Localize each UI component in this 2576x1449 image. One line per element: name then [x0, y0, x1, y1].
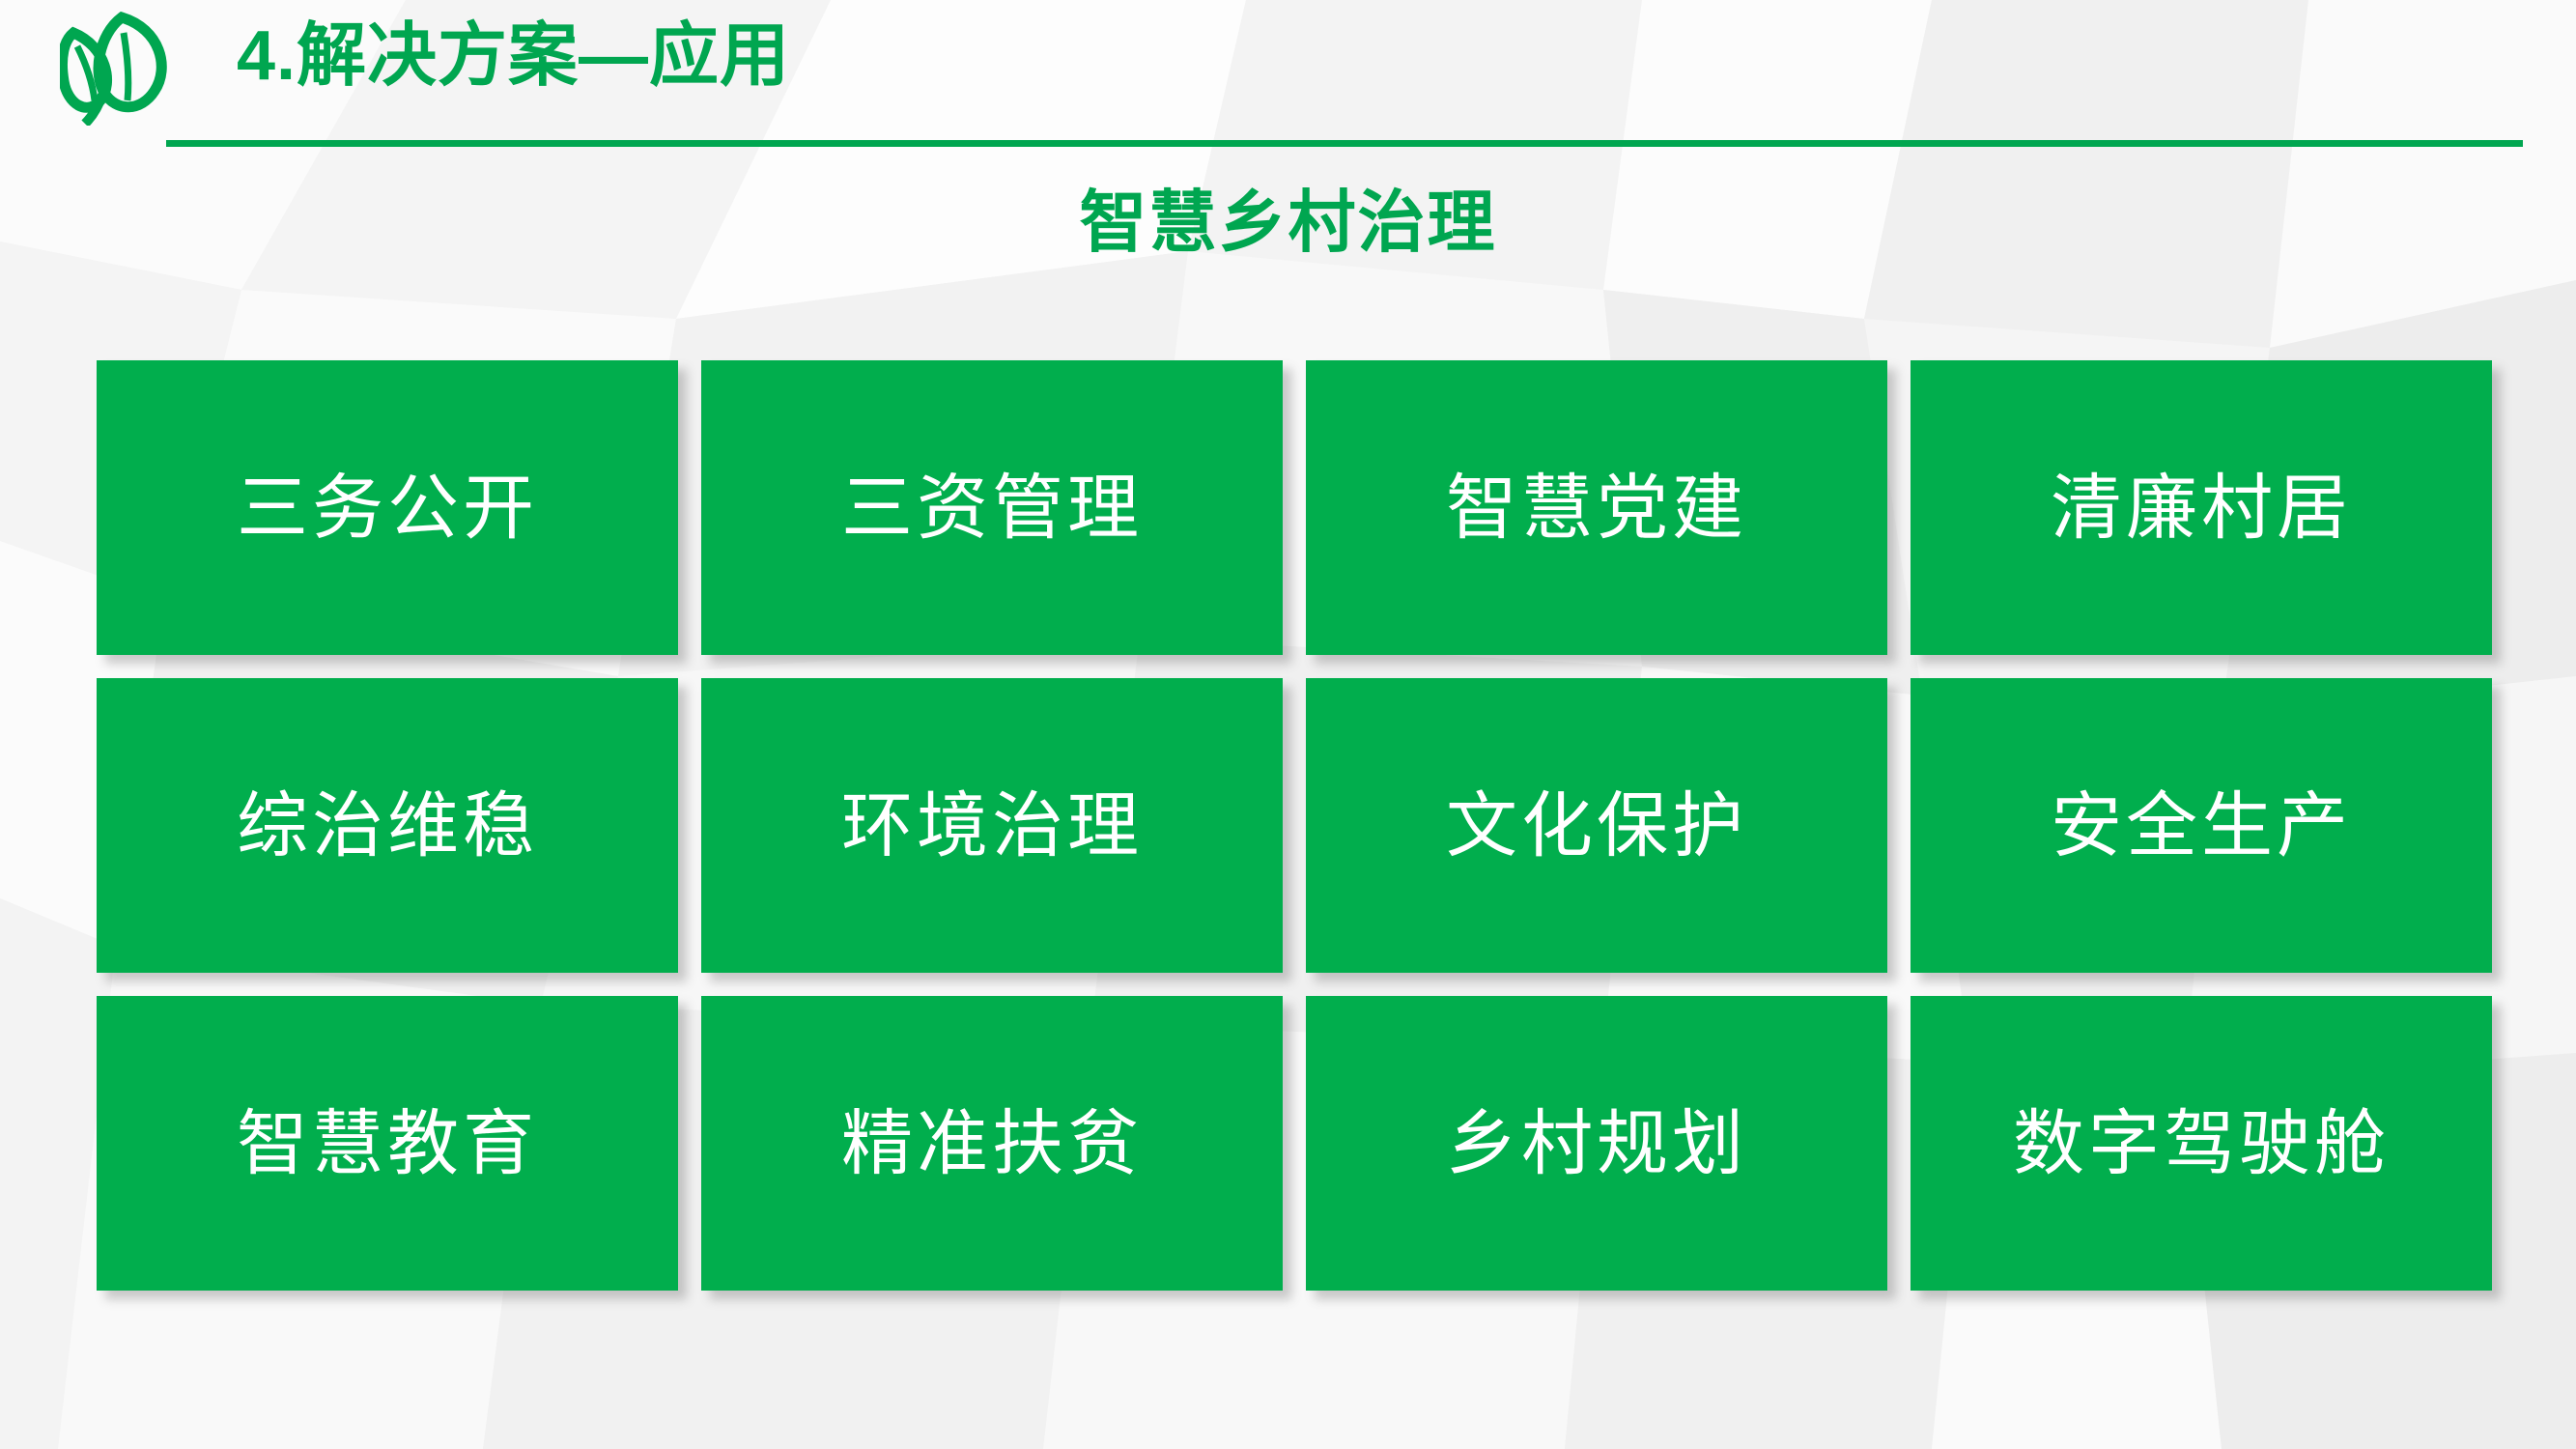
tile-row: 三务公开 三资管理 智慧党建 清廉村居	[97, 360, 2492, 655]
tile-card[interactable]: 环境治理	[701, 678, 1283, 973]
tile-label: 清廉村居	[2051, 472, 2352, 544]
application-tile-grid: 三务公开 三资管理 智慧党建 清廉村居 综治维稳 环境治理 文化保护	[97, 360, 2492, 1291]
tile-card[interactable]: 三资管理	[701, 360, 1283, 655]
page-title: 4.解决方案—应用	[237, 21, 790, 91]
tile-label: 数字驾驶舱	[2013, 1108, 2390, 1179]
tile-row: 智慧教育 精准扶贫 乡村规划 数字驾驶舱	[97, 996, 2492, 1291]
tile-card[interactable]: 乡村规划	[1306, 996, 1887, 1291]
tile-label: 精准扶贫	[841, 1108, 1143, 1179]
tile-card[interactable]: 安全生产	[1911, 678, 2492, 973]
leaf-logo-icon	[60, 12, 174, 126]
tile-card[interactable]: 三务公开	[97, 360, 678, 655]
tile-label: 三务公开	[237, 472, 538, 544]
tile-label: 三资管理	[841, 472, 1143, 544]
slide-header: 4.解决方案—应用	[0, 0, 2576, 164]
tile-card[interactable]: 智慧党建	[1306, 360, 1887, 655]
section-title: 智慧乡村治理	[0, 182, 2576, 263]
tile-label: 乡村规划	[1446, 1108, 1747, 1179]
header-divider	[166, 140, 2523, 147]
tile-card[interactable]: 智慧教育	[97, 996, 678, 1291]
tile-label: 智慧党建	[1446, 472, 1747, 544]
tile-card[interactable]: 精准扶贫	[701, 996, 1283, 1291]
tile-label: 智慧教育	[237, 1108, 538, 1179]
tile-label: 环境治理	[841, 790, 1143, 862]
tile-label: 安全生产	[2051, 790, 2352, 862]
tile-card[interactable]: 数字驾驶舱	[1911, 996, 2492, 1291]
tile-row: 综治维稳 环境治理 文化保护 安全生产	[97, 678, 2492, 973]
tile-label: 文化保护	[1446, 790, 1747, 862]
tile-card[interactable]: 文化保护	[1306, 678, 1887, 973]
tile-card[interactable]: 清廉村居	[1911, 360, 2492, 655]
tile-label: 综治维稳	[237, 790, 538, 862]
tile-card[interactable]: 综治维稳	[97, 678, 678, 973]
slide-canvas: 4.解决方案—应用 智慧乡村治理 三务公开 三资管理 智慧党建 清廉村居 综治维…	[0, 0, 2576, 1449]
